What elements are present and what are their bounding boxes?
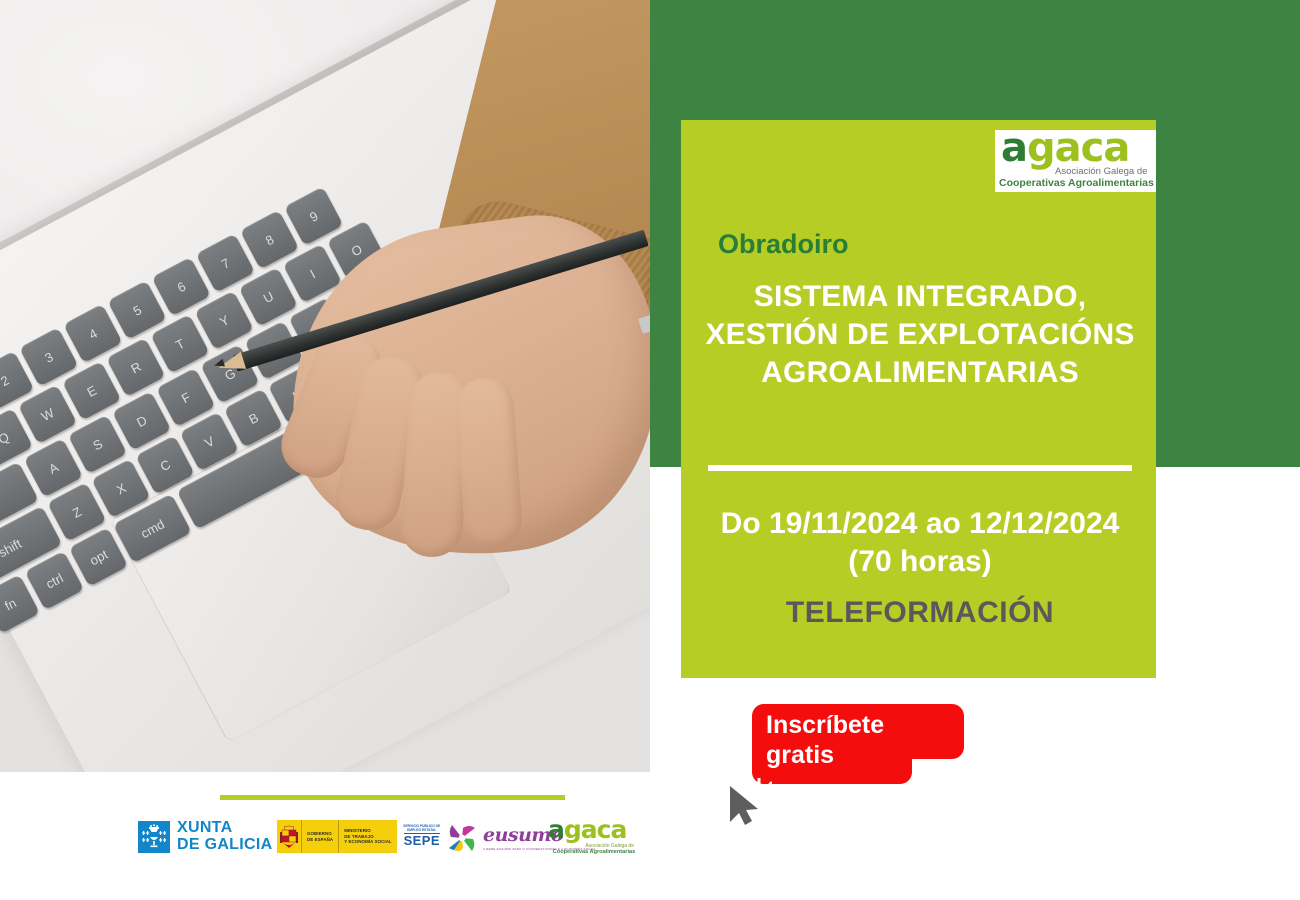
xunta-de-galicia-logo: XUNTA DE GALICIA bbox=[138, 820, 272, 854]
agaca-footer-wordmark: agaca bbox=[548, 817, 640, 842]
agaca-footer-subtitle2: Cooperativas Agroalimentarias bbox=[548, 849, 640, 855]
cursor-arrow-click-icon bbox=[726, 778, 772, 828]
sepe-wordmark: SEPE bbox=[404, 833, 440, 848]
xunta-chalice-emblem bbox=[138, 821, 170, 853]
eusumo-pinwheel-icon bbox=[445, 821, 479, 855]
signup-label-line1: Inscríbete bbox=[766, 711, 956, 741]
ministerio-wordmark: MINISTERIO DE TRABAJO Y ECONOMÍA SOCIAL bbox=[338, 820, 397, 853]
signup-button[interactable]: Inscríbete gratis bbox=[752, 704, 964, 776]
lime-green-panel bbox=[681, 120, 1156, 678]
footer-divider-rule bbox=[220, 795, 565, 800]
xunta-wordmark: XUNTA DE GALICIA bbox=[177, 820, 272, 854]
ministerio-line3: Y ECONOMÍA SOCIAL bbox=[344, 839, 392, 845]
spain-coat-of-arms-icon bbox=[277, 820, 301, 853]
signup-label-line2: gratis bbox=[766, 741, 956, 771]
xunta-line2: DE GALICIA bbox=[177, 837, 272, 854]
gobierno-line2: DE ESPAÑA bbox=[307, 837, 333, 843]
sepe-subtitle: SERVICIO PÚBLICO DE EMPLEO ESTATAL bbox=[399, 824, 445, 832]
agaca-wordmark-first: a bbox=[1001, 130, 1027, 171]
course-kicker: Obradoiro bbox=[718, 229, 849, 260]
agaca-subtitle-line1: Asociación Galega de bbox=[1055, 166, 1147, 177]
course-date-range: Do 19/11/2024 ao 12/12/2024 bbox=[690, 505, 1150, 543]
xunta-line1: XUNTA bbox=[177, 820, 272, 837]
agaca-footer-rest: gaca bbox=[564, 815, 626, 844]
agaca-footer-logo: agaca Asociación Galega de Cooperativas … bbox=[548, 817, 640, 855]
agaca-wordmark: agaca bbox=[1001, 130, 1129, 168]
agaca-logo: agaca Asociación Galega de Cooperativas … bbox=[995, 130, 1156, 192]
white-divider bbox=[708, 465, 1132, 471]
gobierno-de-espana-logo: GOBIERNO DE ESPAÑA MINISTERIO DE TRABAJO… bbox=[277, 820, 447, 853]
finger bbox=[454, 376, 524, 550]
agaca-subtitle-line2: Cooperativas Agroalimentarias bbox=[999, 177, 1154, 189]
laptop-photo: ~123 4567 89 tabQWE RTYU IO capsASD FGHJ… bbox=[0, 0, 650, 772]
gobierno-wordmark: GOBIERNO DE ESPAÑA bbox=[301, 820, 338, 853]
course-title: SISTEMA INTEGRADO, XESTIÓN DE EXPLOTACIÓ… bbox=[700, 278, 1140, 391]
footer-logos: XUNTA DE GALICIA GOBIERNO DE ESPAÑA MINI… bbox=[0, 815, 650, 875]
course-modality: TELEFORMACIÓN bbox=[690, 596, 1150, 630]
agaca-footer-first: a bbox=[548, 815, 564, 844]
course-dates: Do 19/11/2024 ao 12/12/2024 (70 horas) bbox=[690, 505, 1150, 582]
sepe-logo: SERVICIO PÚBLICO DE EMPLEO ESTATAL SEPE bbox=[397, 820, 447, 853]
agaca-wordmark-rest: gaca bbox=[1027, 130, 1129, 171]
signup-button-label: Inscríbete gratis bbox=[766, 711, 956, 770]
course-hours: (70 horas) bbox=[690, 543, 1150, 581]
